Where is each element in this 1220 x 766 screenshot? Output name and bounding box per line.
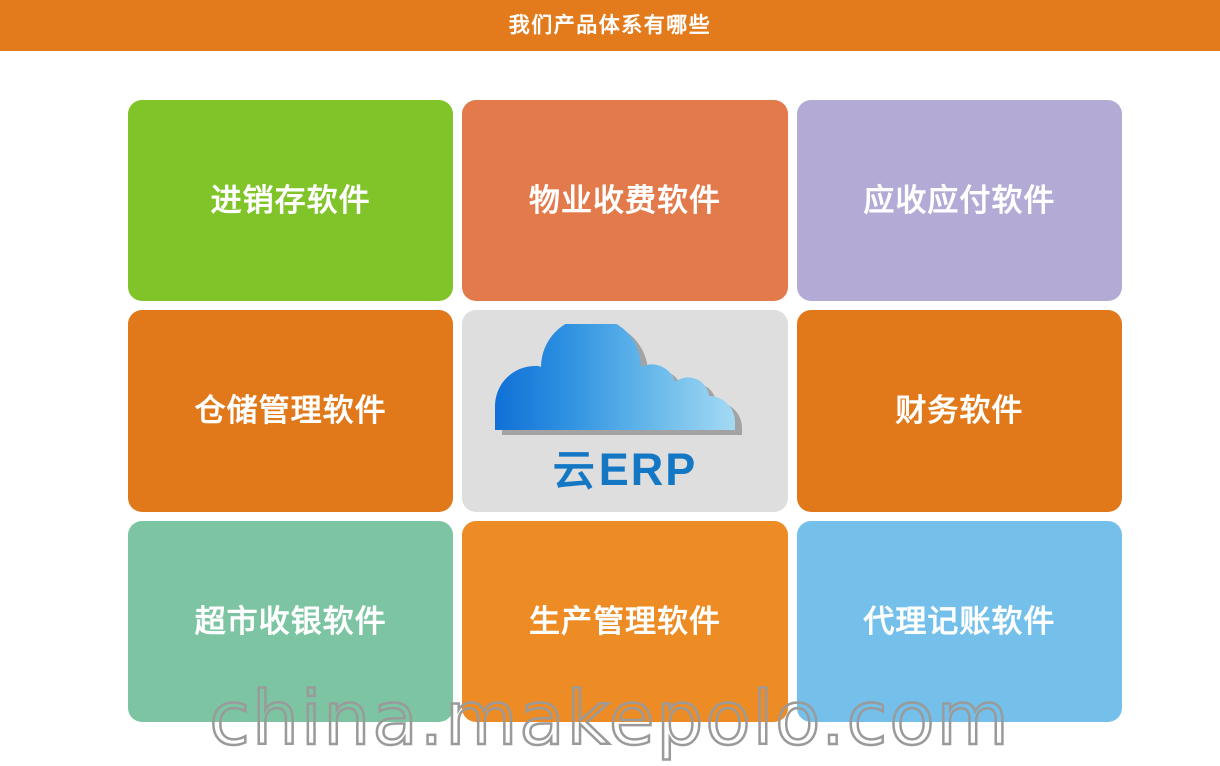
cloud-icon xyxy=(489,324,761,439)
logo-en-text: ERP xyxy=(599,447,698,492)
logo-cn-text: 云 xyxy=(553,450,596,492)
product-card-label: 物业收费软件 xyxy=(529,185,721,216)
product-grid: 进销存软件 物业收费软件 应收应付软件 仓储管理软件 xyxy=(128,100,1122,722)
product-card-label: 应收应付软件 xyxy=(863,185,1055,216)
product-card-shengchan[interactable]: 生产管理软件 xyxy=(462,521,787,722)
product-card-caiwu[interactable]: 财务软件 xyxy=(797,310,1122,511)
logo-group: 云 ERP xyxy=(489,324,761,492)
product-card-wuye[interactable]: 物业收费软件 xyxy=(462,100,787,301)
header-bar: 我们产品体系有哪些 xyxy=(0,0,1220,51)
logo-wordmark: 云 ERP xyxy=(553,447,698,492)
product-card-label: 仓储管理软件 xyxy=(195,395,387,426)
cloud-erp-logo-card[interactable]: 云 ERP xyxy=(462,310,787,511)
product-card-jinxiaocun[interactable]: 进销存软件 xyxy=(128,100,453,301)
page-title: 我们产品体系有哪些 xyxy=(509,15,712,36)
product-card-cangchu[interactable]: 仓储管理软件 xyxy=(128,310,453,511)
product-card-yingshou[interactable]: 应收应付软件 xyxy=(797,100,1122,301)
product-card-label: 财务软件 xyxy=(895,395,1023,426)
product-card-label: 代理记账软件 xyxy=(863,606,1055,637)
product-card-chaoshi[interactable]: 超市收银软件 xyxy=(128,521,453,722)
product-card-label: 生产管理软件 xyxy=(529,606,721,637)
product-card-label: 超市收银软件 xyxy=(195,606,387,637)
product-card-label: 进销存软件 xyxy=(211,185,371,216)
product-card-dailijizhang[interactable]: 代理记账软件 xyxy=(797,521,1122,722)
